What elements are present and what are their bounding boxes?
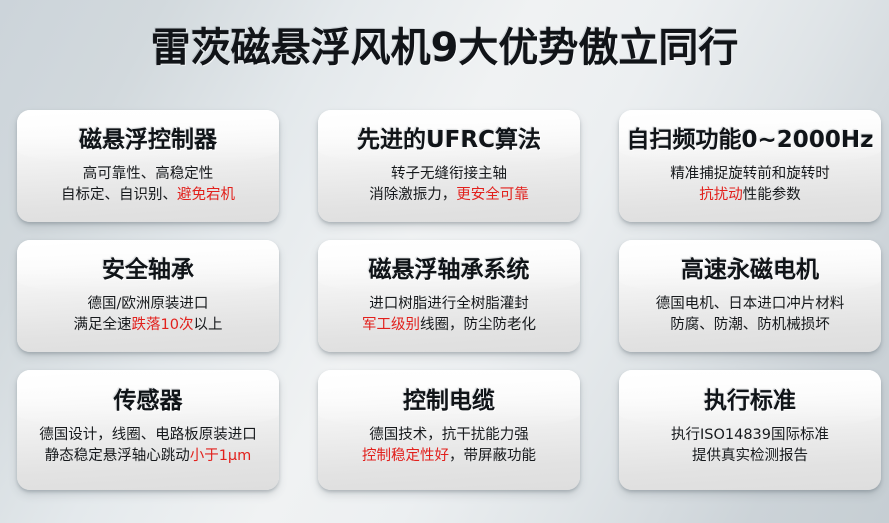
advantage-card[interactable]: 传感器德国设计，线圈、电路板原装进口静态稳定悬浮轴心跳动小于1μm — [17, 370, 279, 490]
highlighted-text: 更安全可靠 — [456, 187, 529, 203]
plain-text: 以上 — [193, 317, 222, 333]
advantage-card-title: 控制电缆 — [403, 386, 495, 416]
advantage-card-line: 转子无缝衔接主轴 — [369, 164, 529, 185]
plain-text: 德国/欧洲原装进口 — [88, 296, 209, 312]
advantage-card[interactable]: 控制电缆德国技术，抗干扰能力强控制稳定性好，带屏蔽功能 — [318, 370, 580, 490]
advantage-card-body: 德国设计，线圈、电路板原装进口静态稳定悬浮轴心跳动小于1μm — [39, 425, 257, 467]
advantage-card-line: 静态稳定悬浮轴心跳动小于1μm — [39, 446, 257, 467]
advantage-card-title: 磁悬浮控制器 — [79, 125, 217, 155]
plain-text: 自标定、自识别、 — [61, 187, 177, 203]
advantage-card[interactable]: 自扫频功能0~2000Hz精准捕捉旋转前和旋转时抗扰动性能参数 — [619, 110, 881, 222]
advantage-card-line: 高可靠性、高稳定性 — [61, 164, 235, 185]
advantage-card-title: 安全轴承 — [102, 255, 194, 285]
advantage-card-line: 抗扰动性能参数 — [670, 185, 830, 206]
highlighted-text: 避免宕机 — [177, 187, 235, 203]
plain-text: 精准捕捉旋转前和旋转时 — [670, 166, 830, 182]
advantage-card-line: 军工级别线圈，防尘防老化 — [362, 315, 536, 336]
plain-text: 性能参数 — [743, 187, 801, 203]
advantage-card-line: 消除激振力，更安全可靠 — [369, 185, 529, 206]
advantage-card-body: 德国/欧洲原装进口满足全速跌落10次以上 — [74, 294, 223, 336]
advantage-card[interactable]: 高速永磁电机德国电机、日本进口冲片材料防腐、防潮、防机械损坏 — [619, 240, 881, 352]
advantage-card[interactable]: 先进的UFRC算法转子无缝衔接主轴消除激振力，更安全可靠 — [318, 110, 580, 222]
advantage-card-title: 自扫频功能0~2000Hz — [627, 125, 874, 155]
advantage-card-line: 自标定、自识别、避免宕机 — [61, 185, 235, 206]
advantage-card-line: 德国/欧洲原装进口 — [74, 294, 223, 315]
advantage-card-line: 精准捕捉旋转前和旋转时 — [670, 164, 830, 185]
plain-text: 进口树脂进行全树脂灌封 — [369, 296, 529, 312]
plain-text: 满足全速 — [74, 317, 132, 333]
advantage-card-line: 进口树脂进行全树脂灌封 — [362, 294, 536, 315]
highlighted-text: 小于1μm — [190, 448, 252, 464]
advantage-card-body: 进口树脂进行全树脂灌封军工级别线圈，防尘防老化 — [362, 294, 536, 336]
page-title: 雷茨磁悬浮风机9大优势傲立同行 — [151, 22, 739, 74]
advantage-card-line: 执行ISO14839国际标准 — [671, 425, 829, 446]
plain-text: 德国技术，抗干扰能力强 — [369, 427, 529, 443]
plain-text: 高可靠性、高稳定性 — [83, 166, 214, 182]
advantage-card-title: 磁悬浮轴承系统 — [369, 255, 530, 285]
advantage-card[interactable]: 安全轴承德国/欧洲原装进口满足全速跌落10次以上 — [17, 240, 279, 352]
highlighted-text: 抗扰动 — [699, 187, 743, 203]
plain-text: 提供真实检测报告 — [692, 448, 808, 464]
highlighted-text: 军工级别 — [362, 317, 420, 333]
plain-text: 静态稳定悬浮轴心跳动 — [45, 448, 190, 464]
advantage-card-body: 转子无缝衔接主轴消除激振力，更安全可靠 — [369, 164, 529, 206]
advantages-grid: 磁悬浮控制器高可靠性、高稳定性自标定、自识别、避免宕机先进的UFRC算法转子无缝… — [17, 110, 880, 505]
plain-text: 德国设计，线圈、电路板原装进口 — [39, 427, 257, 443]
page-header: 雷茨磁悬浮风机9大优势傲立同行 — [0, 22, 889, 74]
advantage-card-body: 德国技术，抗干扰能力强控制稳定性好，带屏蔽功能 — [362, 425, 536, 467]
advantage-card-body: 执行ISO14839国际标准提供真实检测报告 — [671, 425, 829, 467]
advantage-card-title: 执行标准 — [704, 386, 796, 416]
advantage-card-title: 高速永磁电机 — [681, 255, 819, 285]
plain-text: 线圈，防尘防老化 — [420, 317, 536, 333]
advantage-card-body: 德国电机、日本进口冲片材料防腐、防潮、防机械损坏 — [656, 294, 845, 336]
plain-text: 防腐、防潮、防机械损坏 — [670, 317, 830, 333]
advantage-card-line: 德国电机、日本进口冲片材料 — [656, 294, 845, 315]
advantage-card-title: 传感器 — [114, 386, 183, 416]
advantage-card[interactable]: 磁悬浮轴承系统进口树脂进行全树脂灌封军工级别线圈，防尘防老化 — [318, 240, 580, 352]
plain-text: 转子无缝衔接主轴 — [391, 166, 507, 182]
advantage-card[interactable]: 执行标准执行ISO14839国际标准提供真实检测报告 — [619, 370, 881, 490]
advantage-card-line: 满足全速跌落10次以上 — [74, 315, 223, 336]
advantage-card[interactable]: 磁悬浮控制器高可靠性、高稳定性自标定、自识别、避免宕机 — [17, 110, 279, 222]
plain-text: 执行ISO14839国际标准 — [671, 427, 829, 443]
plain-text: 德国电机、日本进口冲片材料 — [656, 296, 845, 312]
advantage-card-line: 提供真实检测报告 — [671, 446, 829, 467]
highlighted-text: 跌落10次 — [132, 317, 194, 333]
plain-text: ，带屏蔽功能 — [449, 448, 536, 464]
advantage-card-line: 控制稳定性好，带屏蔽功能 — [362, 446, 536, 467]
plain-text: 消除激振力， — [369, 187, 456, 203]
highlighted-text: 控制稳定性好 — [362, 448, 449, 464]
advantage-card-line: 防腐、防潮、防机械损坏 — [656, 315, 845, 336]
advantage-card-body: 高可靠性、高稳定性自标定、自识别、避免宕机 — [61, 164, 235, 206]
advantage-card-line: 德国技术，抗干扰能力强 — [362, 425, 536, 446]
advantage-card-title: 先进的UFRC算法 — [357, 125, 541, 155]
advantage-card-line: 德国设计，线圈、电路板原装进口 — [39, 425, 257, 446]
advantage-card-body: 精准捕捉旋转前和旋转时抗扰动性能参数 — [670, 164, 830, 206]
